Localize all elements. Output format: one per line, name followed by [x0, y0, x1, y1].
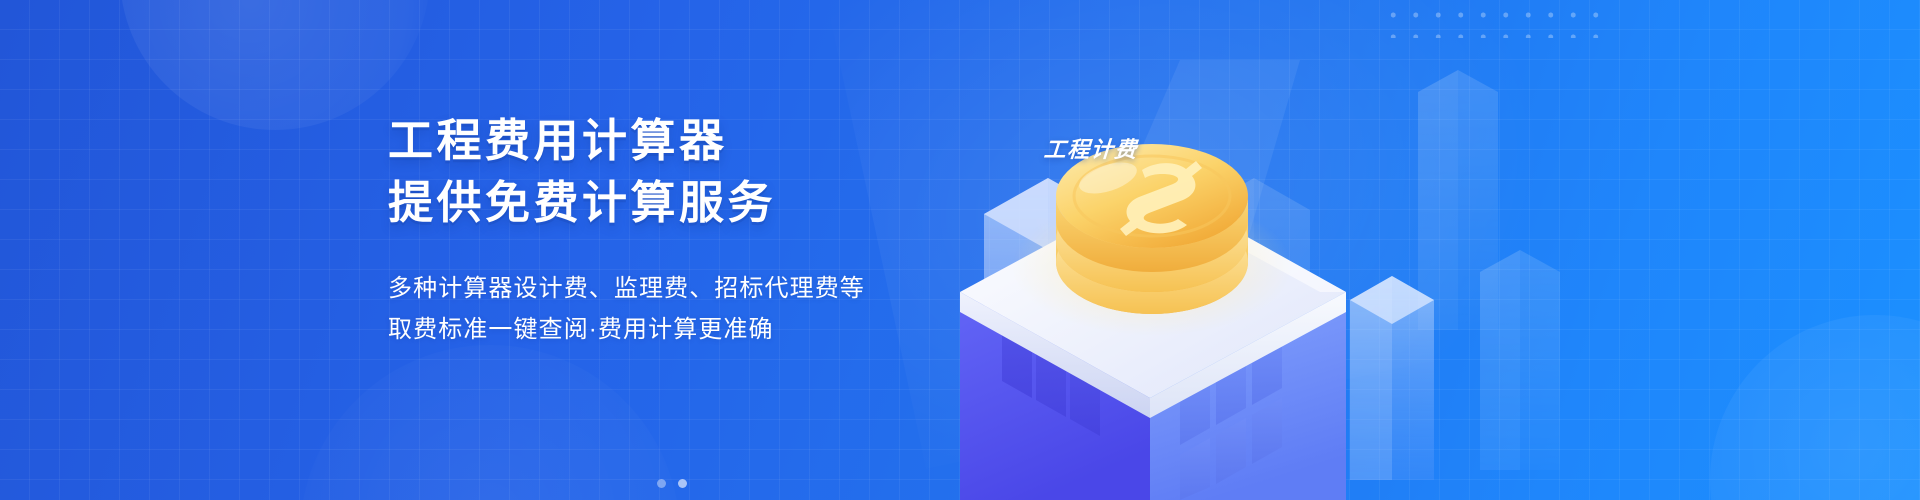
subline-1: 多种计算器设计费、监理费、招标代理费等 [388, 268, 948, 309]
accent-tower-right [1350, 276, 1434, 480]
isometric-illustration [880, 0, 1660, 500]
banner-subcopy: 多种计算器设计费、监理费、招标代理费等 取费标准一键查阅·费用计算更准确 [388, 268, 948, 350]
glow-circle-bottom-left [300, 345, 680, 500]
banner-copy: 工程费用计算器 提供免费计算服务 多种计算器设计费、监理费、招标代理费等 取费标… [388, 112, 948, 350]
carousel-dot-1[interactable] [657, 479, 666, 488]
headline-line-1: 工程费用计算器 [388, 112, 948, 169]
subline-2: 取费标准一键查阅·费用计算更准确 [388, 309, 948, 350]
promo-banner: 工程计费 工程费用计算器 提供免费计算服务 多种计算器设计费、监理费、招标代理费… [0, 0, 1920, 500]
glow-circle-top-left [120, 0, 430, 130]
headline-line-2: 提供免费计算服务 [388, 174, 948, 231]
carousel-dot-2[interactable] [678, 479, 687, 488]
carousel-indicators[interactable] [657, 479, 687, 488]
illustration-label: 工程计费 [1043, 132, 1139, 164]
glow-circle-bottom-right [1710, 315, 1920, 500]
